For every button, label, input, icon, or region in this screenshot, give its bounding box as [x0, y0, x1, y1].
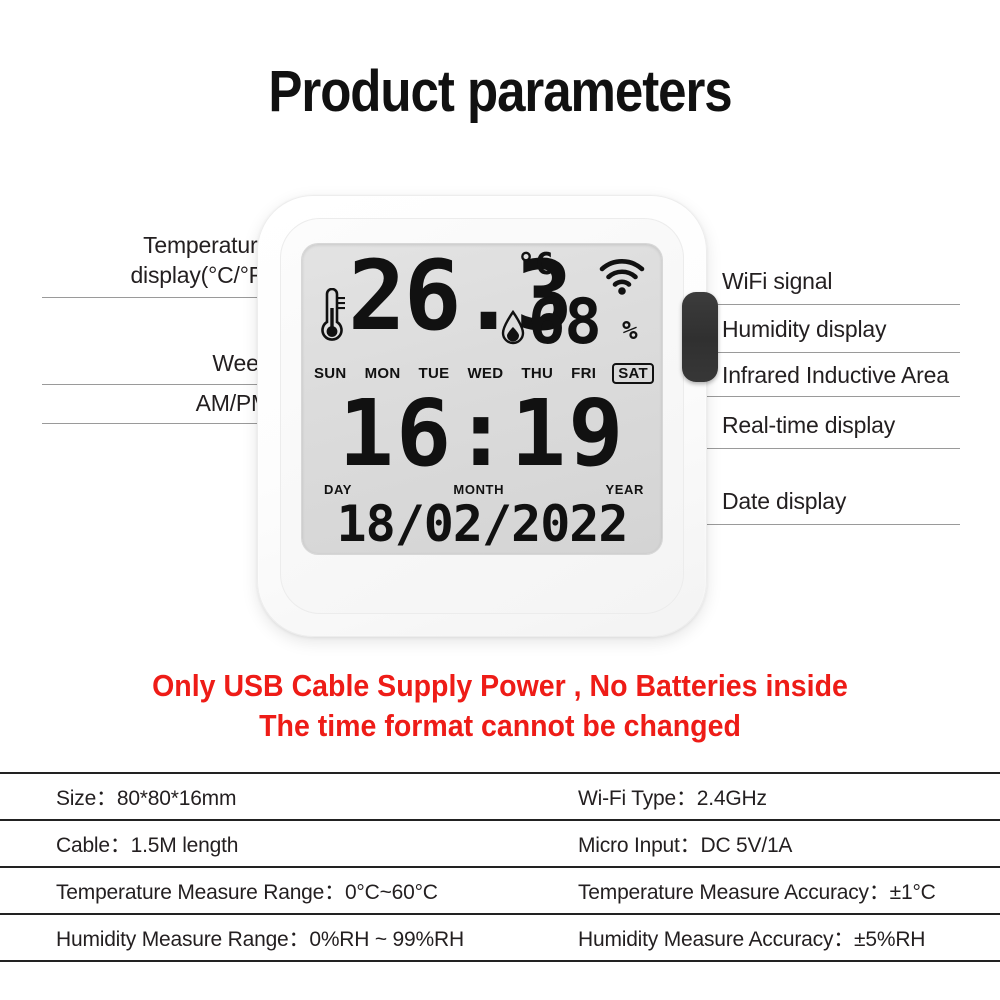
- table-row: Cable：1.5M length Micro Input：DC 5V/1A: [0, 821, 1000, 868]
- table-row: Temperature Measure Range：0°C~60°C Tempe…: [0, 868, 1000, 915]
- callout-label-week: Week: [20, 348, 270, 378]
- table-row: Size：80*80*16mm Wi-Fi Type：2.4GHz: [0, 774, 1000, 821]
- callout-label-humidity-display: Humidity display: [722, 316, 886, 343]
- spec-hum-range: Humidity Measure Range：0%RH ~ 99%RH: [0, 923, 556, 953]
- clock-display: 16:19: [302, 384, 662, 484]
- lcd-screen: 26.3 °C 6: [302, 244, 662, 554]
- callout-label-infrared-inductive-area: Infrared Inductive Area: [722, 362, 949, 389]
- water-drop-icon: [500, 310, 526, 351]
- spec-hum-accuracy: Humidity Measure Accuracy：±5%RH: [556, 923, 1000, 953]
- spec-size: Size：80*80*16mm: [0, 782, 556, 812]
- temperature-unit: °C: [517, 250, 553, 280]
- humidity-value: 68: [528, 288, 601, 356]
- spec-cable: Cable：1.5M length: [0, 829, 556, 859]
- humidity-group: 68 %: [500, 296, 662, 356]
- callout-label-wifi-signal: WiFi signal: [722, 268, 832, 295]
- spec-temp-accuracy: Temperature Measure Accuracy：±1°C: [556, 876, 1000, 906]
- callout-label-date-display: Date display: [722, 488, 846, 515]
- callout-label-am-pm: AM/PM: [20, 388, 270, 418]
- callout-label-real-time-display: Real-time display: [722, 412, 895, 439]
- spec-temp-range: Temperature Measure Range：0°C~60°C: [0, 876, 556, 906]
- specifications-table: Size：80*80*16mm Wi-Fi Type：2.4GHz Cable：…: [0, 772, 1000, 962]
- warning-notes: Only USB Cable Supply Power , No Batteri…: [0, 666, 1000, 746]
- date-value: 18/02/2022: [302, 496, 662, 552]
- page-title: Product parameters: [60, 58, 940, 125]
- infrared-inductive-area-button[interactable]: [682, 292, 718, 382]
- callout-label-temperature-display: Temperature display(°C/°F): [20, 230, 270, 290]
- callout-line-2: display(°C/°F): [20, 260, 270, 290]
- thermometer-icon: [316, 288, 346, 351]
- device-body: 26.3 °C 6: [257, 195, 707, 637]
- warning-note-time-format: The time format cannot be changed: [40, 706, 960, 746]
- clock-time: 16:19: [339, 380, 626, 487]
- warning-note-power: Only USB Cable Supply Power , No Batteri…: [40, 666, 960, 706]
- callout-line-1: AM/PM: [20, 388, 270, 418]
- table-row: Humidity Measure Range：0%RH ~ 99%RH Humi…: [0, 915, 1000, 962]
- callout-line-1: Week: [20, 348, 270, 378]
- leader-line-infrared-inductive-area: [673, 396, 960, 397]
- wifi-signal-icon: [598, 258, 646, 301]
- product-diagram: Temperature display(°C/°F) Week AM/PM Wi…: [0, 180, 1000, 660]
- spec-wifi-type: Wi-Fi Type：2.4GHz: [556, 782, 1000, 812]
- spec-micro-input: Micro Input：DC 5V/1A: [556, 829, 1000, 859]
- humidity-unit: %: [622, 318, 638, 344]
- callout-line-1: Temperature: [20, 230, 270, 260]
